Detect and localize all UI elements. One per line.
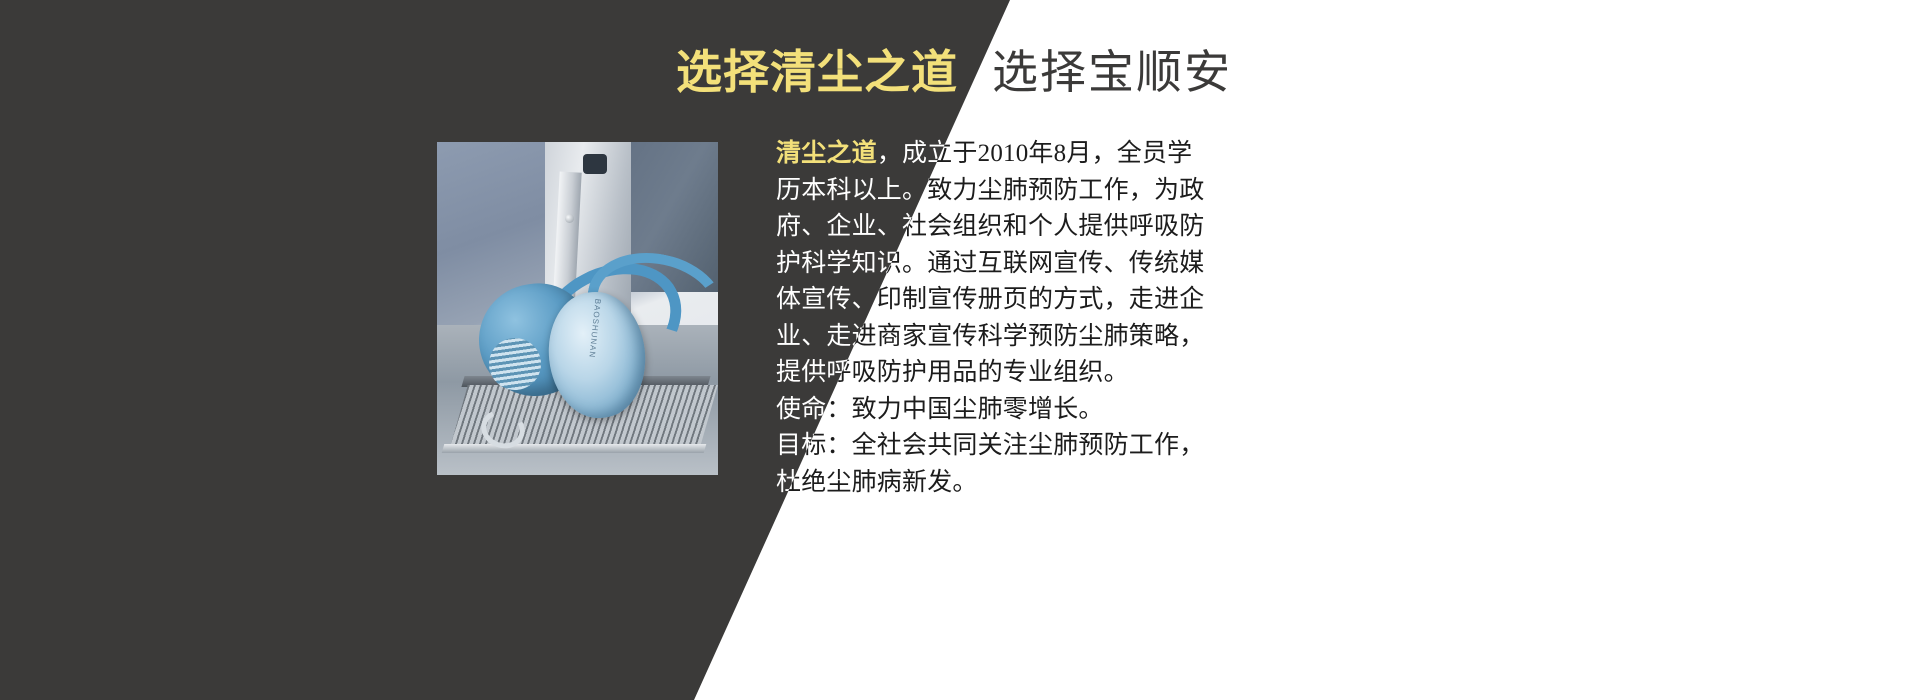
banner-root: BAOSHUNAN 选择清尘之道选择宝顺安 清尘之道，成立于2010年8月，全员… (0, 0, 1920, 700)
body-lead: 清尘之道 (776, 140, 877, 167)
body-line: 使命：致力中国尘肺零增长。 (776, 392, 1216, 429)
banner-title-rest: 选择宝顺安 (992, 46, 1232, 98)
body-line: 目标：全社会共同关注尘肺预防工作， (776, 428, 1216, 465)
body-line: 杜绝尘肺病新发。 (776, 465, 1216, 502)
banner-title-accent: 选择清尘之道 (676, 46, 958, 98)
